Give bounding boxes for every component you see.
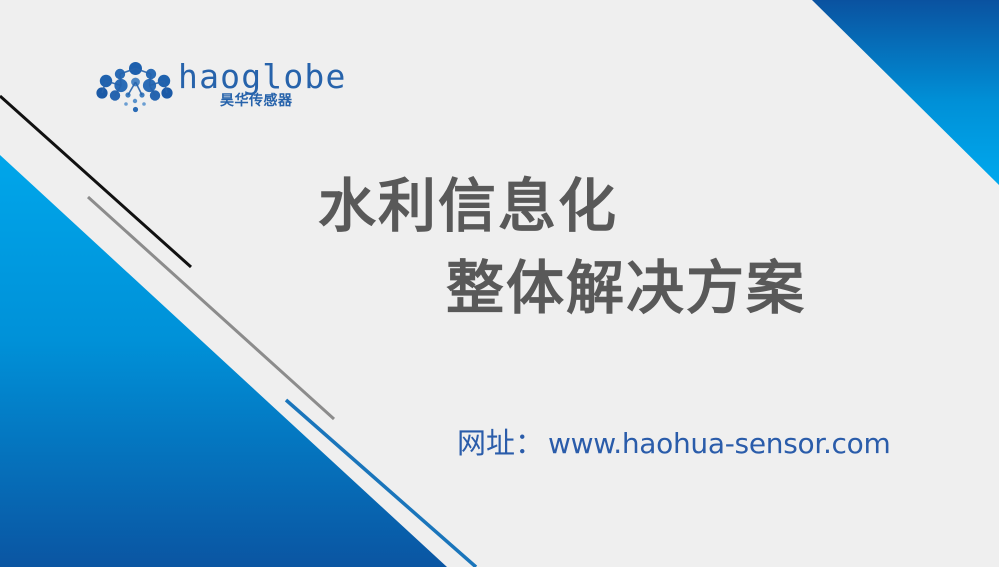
website-line: 网址：www.haohua-sensor.com: [457, 421, 890, 471]
website-url[interactable]: www.haohua-sensor.com: [548, 427, 890, 460]
page-title: 水利信息化 整体解决方案: [318, 165, 938, 329]
presentation-title-slide: haoglobe 昊华传感器 水利信息化 整体解决方案 网址：www.haohu…: [0, 0, 999, 567]
haoglobe-network-dots-icon: [96, 62, 174, 114]
company-logo[interactable]: haoglobe 昊华传感器: [96, 57, 326, 119]
website-label: 网址：: [457, 426, 544, 460]
logo-wordmark: haoglobe: [178, 59, 347, 95]
logo-text-group: haoglobe 昊华传感器: [178, 57, 328, 119]
title-line-1: 水利信息化: [318, 165, 938, 247]
title-line-2: 整体解决方案: [318, 247, 938, 329]
logo-chinese-name: 昊华传感器: [220, 93, 293, 109]
